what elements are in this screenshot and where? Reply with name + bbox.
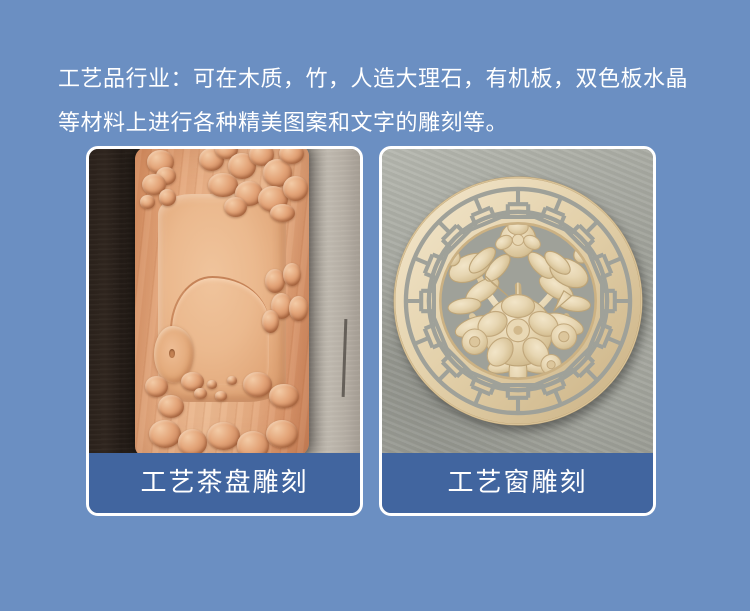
page-title: 工艺品行业：可在木质，竹，人造大理石，有机板，双色板水晶等材料上进行各种精美图案… bbox=[58, 58, 696, 146]
card-caption: 工艺茶盘雕刻 bbox=[89, 453, 360, 513]
card-craft-window[interactable]: 工艺窗雕刻 bbox=[379, 146, 656, 516]
promo-banner: 工艺品行业：可在木质，竹，人造大理石，有机板，双色板水晶等材料上进行各种精美图案… bbox=[0, 0, 750, 611]
relief-cluster-right bbox=[260, 263, 312, 339]
tea-tray-photo bbox=[89, 149, 360, 453]
card-caption: 工艺窗雕刻 bbox=[382, 453, 653, 513]
relief-cluster-top-right bbox=[194, 149, 308, 222]
round-lattice-carving bbox=[390, 167, 645, 435]
relief-cluster-top-left bbox=[139, 149, 198, 216]
card-craft-tea-tray[interactable]: 工艺茶盘雕刻 bbox=[86, 146, 363, 516]
card-row: 工艺茶盘雕刻 bbox=[86, 146, 656, 516]
carved-wood-board bbox=[135, 149, 308, 453]
window-carving-photo bbox=[382, 149, 653, 453]
tea-tray-scene bbox=[89, 149, 360, 453]
window-carving-scene bbox=[382, 149, 653, 453]
relief-cluster-bottom bbox=[142, 371, 305, 453]
